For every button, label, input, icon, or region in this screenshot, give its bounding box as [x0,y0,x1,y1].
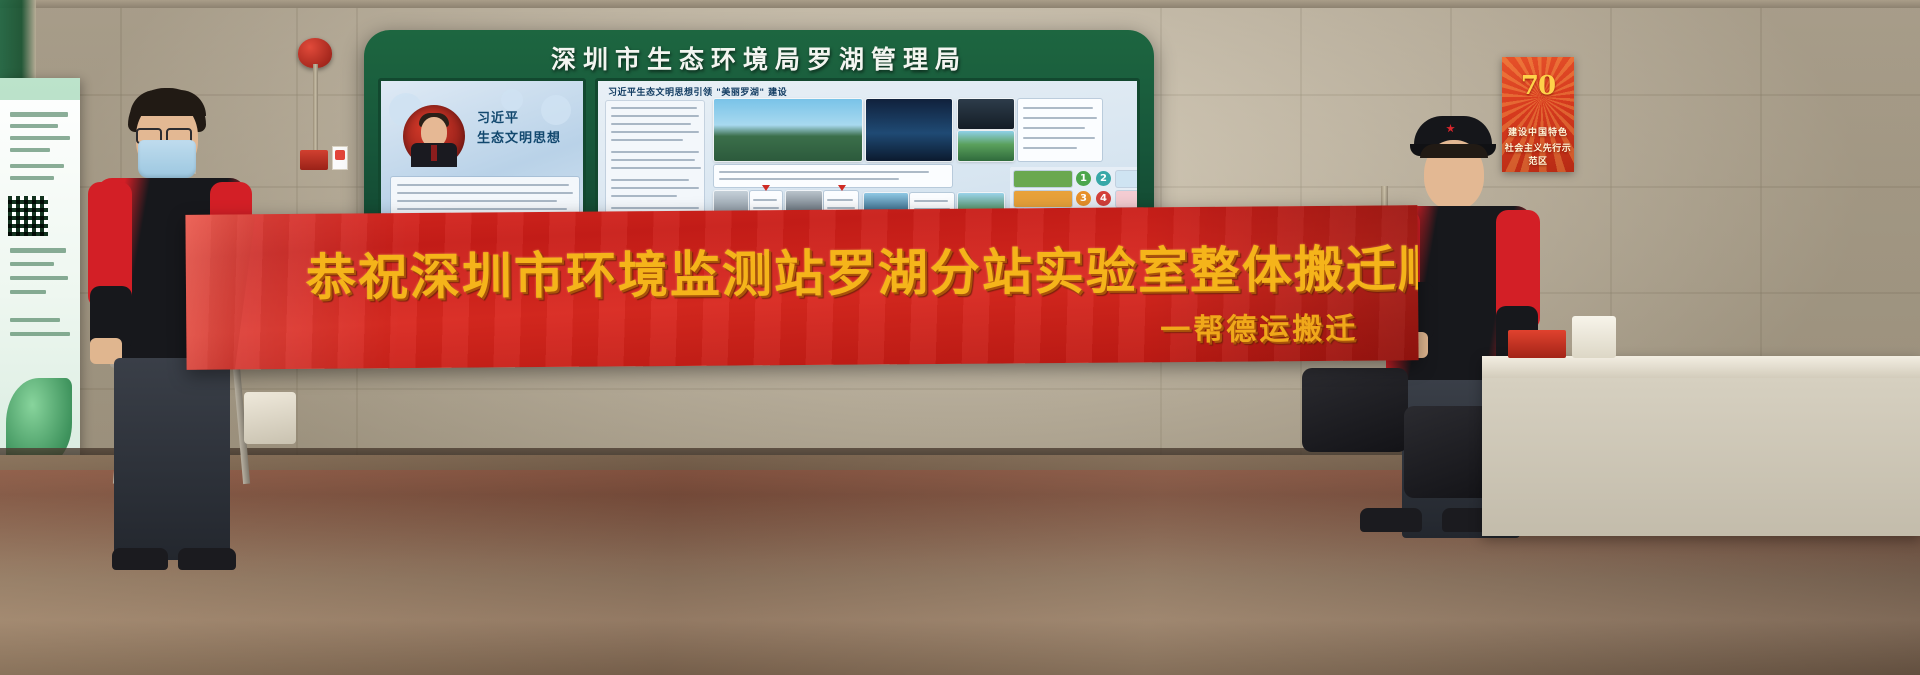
hand-icon [335,150,345,160]
banner-fold-highlight [185,214,255,370]
board-title: 深圳市生态环境局罗湖管理局 [364,40,1154,76]
reception-counter [1482,356,1920,536]
photo-grid-2 [958,131,1014,161]
photo-grid-1 [958,99,1014,129]
portrait-photo [403,105,465,167]
fire-call-point [300,150,328,170]
left-standee-banner [0,78,80,468]
fire-instruction-sign [332,146,348,170]
photo-city-skyline [714,99,862,161]
standee-header-band [0,78,80,100]
panel-left-heading: 习近平 生态文明思想 [477,109,561,148]
photo-scene: 深圳市生态环境局罗湖管理局 习近平 生态文明思想 [0,0,1920,675]
number-badge-2: 2 [1096,171,1111,186]
number-badge-1: 1 [1076,171,1091,186]
red-box-item [1508,330,1566,358]
qr-code-icon [8,196,48,236]
board-panel-left: 习近平 生态文明思想 [378,78,586,233]
banner-signature: 一帮德运搬迁 [1160,304,1358,350]
congratulation-banner: 恭祝深圳市环境监测站罗湖分站实验室整体搬迁顺利完工! 一帮德运搬迁 [185,205,1418,370]
ceiling-strip [0,0,1920,8]
duffel-bag-1 [1302,368,1408,452]
banner-main-text: 恭祝深圳市环境监测站罗湖分站实验室整体搬迁顺利完工! [306,229,1397,310]
photo-night-view [866,99,952,161]
tissue-box [1572,316,1616,358]
poster-number: 70 [1521,71,1555,101]
panel-right-heading: 习近平生态文明思想引领 "美丽罗湖" 建设 [608,85,787,98]
number-badge-3: 3 [1076,191,1091,206]
number-badge-4: 4 [1096,191,1111,206]
conduit-pipe [313,64,318,152]
